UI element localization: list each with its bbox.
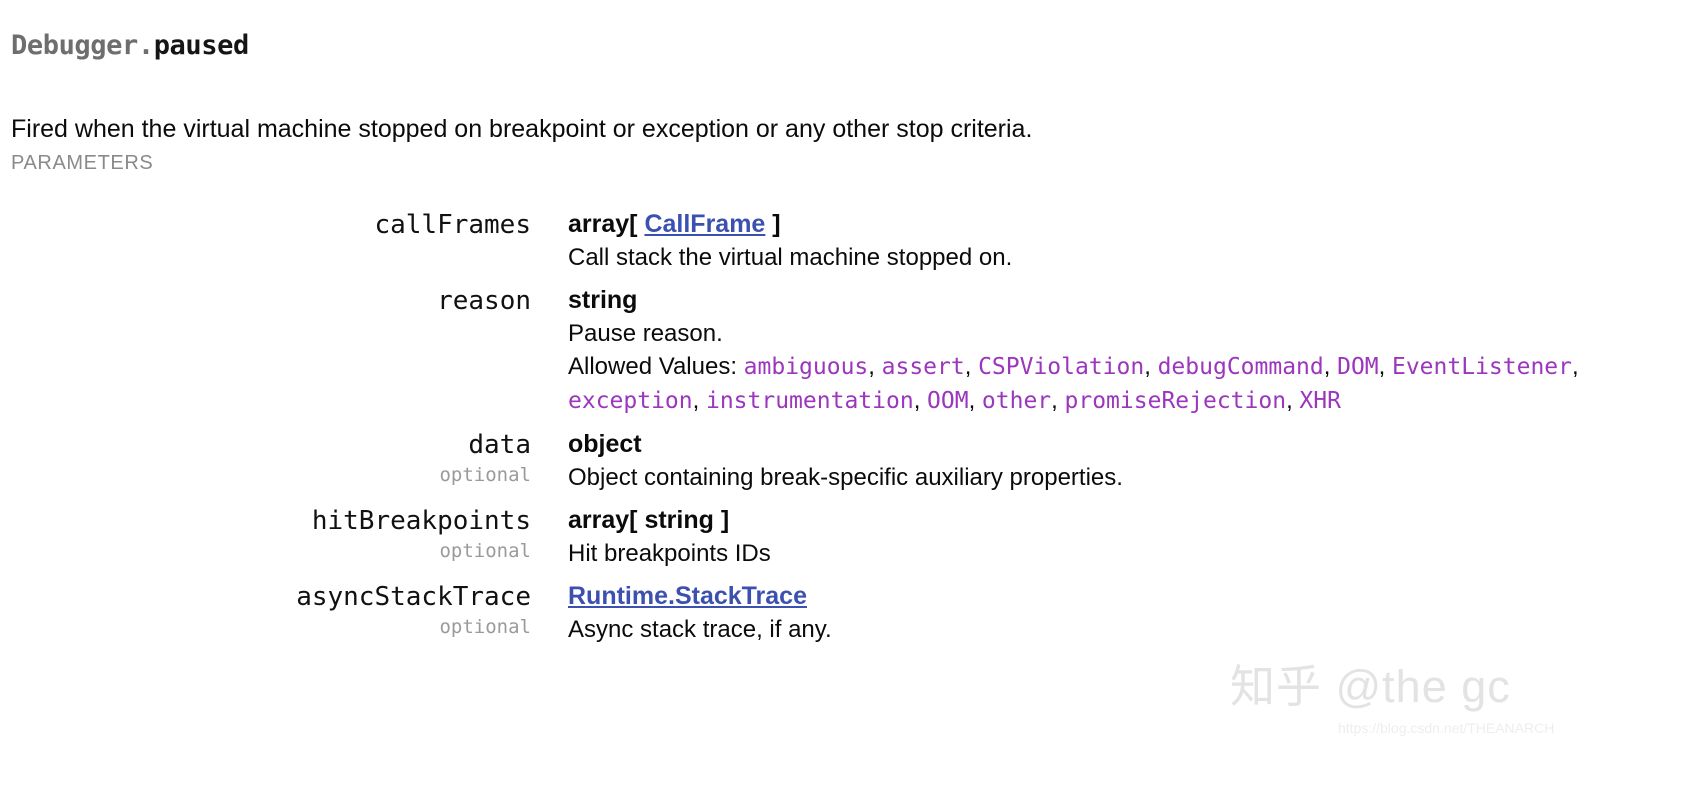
- allowed-value: exception: [568, 388, 693, 414]
- param-type-prefix: object: [568, 430, 642, 458]
- param-name: data: [0, 428, 531, 462]
- allowed-value-separator: ,: [868, 353, 881, 380]
- table-row: data optional object Object containing b…: [0, 428, 1692, 494]
- allowed-value-separator: ,: [1572, 353, 1579, 380]
- param-name: callFrames: [0, 208, 531, 242]
- param-body-cell: Runtime.StackTrace Async stack trace, if…: [531, 580, 1692, 646]
- allowed-value: ambiguous: [744, 354, 869, 380]
- param-name-cell: data optional: [0, 428, 531, 488]
- table-row: reason string Pause reason. Allowed Valu…: [0, 284, 1692, 418]
- allowed-value-separator: ,: [969, 387, 982, 414]
- allowed-value: OOM: [927, 388, 969, 414]
- param-description: Async stack trace, if any.: [568, 613, 1692, 646]
- watermark-zhihu: 知乎 @the gc: [1230, 650, 1511, 715]
- allowed-value-separator: ,: [693, 387, 706, 414]
- type-link-callframe[interactable]: CallFrame: [644, 210, 765, 238]
- param-name: asyncStackTrace: [0, 580, 531, 614]
- type-link-runtime-stacktrace[interactable]: Runtime.StackTrace: [568, 580, 807, 613]
- allowed-value: other: [982, 388, 1051, 414]
- param-name-cell: callFrames: [0, 208, 531, 242]
- event-description: Fired when the virtual machine stopped o…: [11, 114, 1032, 145]
- param-type: Runtime.StackTrace: [568, 580, 1692, 613]
- param-optional-flag: optional: [0, 538, 531, 564]
- param-body-cell: string Pause reason. Allowed Values: amb…: [531, 284, 1692, 418]
- page-title-member: paused: [154, 30, 249, 61]
- param-name: reason: [0, 284, 531, 318]
- parameters-section-label: PARAMETERS: [11, 152, 153, 175]
- param-optional-flag: optional: [0, 462, 531, 488]
- allowed-value: XHR: [1299, 388, 1341, 414]
- param-type: array[ string ]: [568, 504, 1692, 537]
- allowed-value: DOM: [1337, 354, 1379, 380]
- bracket-open: [: [629, 210, 644, 238]
- param-type: array[ CallFrame ]: [568, 208, 1692, 241]
- param-description: Pause reason.: [568, 317, 1692, 350]
- allowed-value: instrumentation: [706, 388, 914, 414]
- param-optional-flag: optional: [0, 614, 531, 640]
- param-name-cell: hitBreakpoints optional: [0, 504, 531, 564]
- allowed-value: EventListener: [1392, 354, 1572, 380]
- parameters-table: callFrames array[ CallFrame ] Call stack…: [0, 208, 1692, 656]
- param-type-prefix: array: [568, 210, 629, 238]
- param-type-prefix: array: [568, 506, 629, 534]
- param-body-cell: object Object containing break-specific …: [531, 428, 1692, 494]
- bracket-open: [: [629, 506, 644, 534]
- allowed-value-separator: ,: [965, 353, 978, 380]
- param-name-cell: reason: [0, 284, 531, 318]
- param-type: object: [568, 428, 1692, 461]
- param-body-cell: array[ string ] Hit breakpoints IDs: [531, 504, 1692, 570]
- allowed-value: promiseRejection: [1065, 388, 1287, 414]
- page-title-domain: Debugger.: [11, 30, 154, 61]
- table-row: hitBreakpoints optional array[ string ] …: [0, 504, 1692, 570]
- allowed-value-separator: ,: [1286, 387, 1299, 414]
- param-type-prefix: string: [568, 286, 637, 314]
- bracket-close: ]: [714, 506, 729, 534]
- documentation-page: Debugger.paused Fired when the virtual m…: [0, 0, 1692, 808]
- allowed-values-label: Allowed Values:: [568, 353, 744, 380]
- allowed-values-line: Allowed Values: ambiguous, assert, CSPVi…: [568, 350, 1692, 418]
- allowed-value: debugCommand: [1158, 354, 1324, 380]
- param-description: Hit breakpoints IDs: [568, 537, 1692, 570]
- param-type-inner: string: [644, 506, 713, 534]
- allowed-value: CSPViolation: [978, 354, 1144, 380]
- allowed-value-separator: ,: [1144, 353, 1157, 380]
- param-name: hitBreakpoints: [0, 504, 531, 538]
- page-title: Debugger.paused: [11, 30, 249, 62]
- param-description: Object containing break-specific auxilia…: [568, 461, 1692, 494]
- allowed-value-separator: ,: [914, 387, 927, 414]
- bracket-close: ]: [765, 210, 780, 238]
- param-name-cell: asyncStackTrace optional: [0, 580, 531, 640]
- allowed-value: assert: [882, 354, 965, 380]
- allowed-value-separator: ,: [1324, 353, 1337, 380]
- table-row: asyncStackTrace optional Runtime.StackTr…: [0, 580, 1692, 646]
- param-type: string: [568, 284, 1692, 317]
- watermark-source-url: https://blog.csdn.net/THEANARCH: [1338, 720, 1554, 736]
- allowed-value-separator: ,: [1051, 387, 1064, 414]
- param-description: Call stack the virtual machine stopped o…: [568, 241, 1692, 274]
- allowed-value-separator: ,: [1379, 353, 1392, 380]
- param-body-cell: array[ CallFrame ] Call stack the virtua…: [531, 208, 1692, 274]
- table-row: callFrames array[ CallFrame ] Call stack…: [0, 208, 1692, 274]
